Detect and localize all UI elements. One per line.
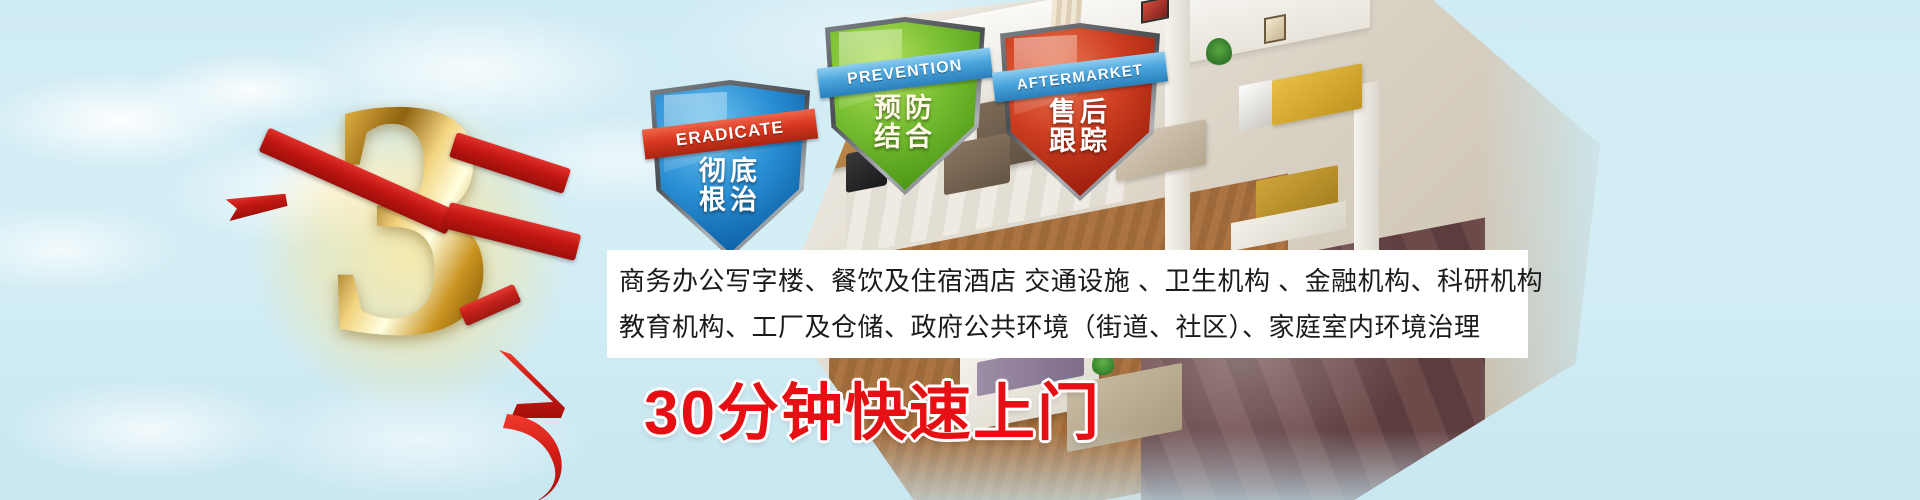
- service-scope-line-2: 教育机构、工厂及仓储、政府公共环境（街道、社区）、家庭室内环境治理: [619, 304, 1528, 350]
- shield-badge-eradicate: ERADICATE 彻底 根治: [655, 85, 805, 253]
- shield-cn-line2: 根治: [655, 186, 805, 215]
- shield-cn-line1: 预防: [830, 94, 980, 123]
- headline-30min-service: 30分钟快速上门: [644, 362, 1101, 452]
- range-hood: [1239, 80, 1272, 131]
- shield-badge-prevention: PREVENTION 预防 结合: [830, 22, 980, 190]
- arrow-head-shape: [499, 350, 565, 418]
- shield-cn-line1: 彻底: [655, 157, 805, 186]
- shield-text-prevention: 预防 结合: [830, 94, 980, 152]
- arrow-ribbon-tail-shape: [503, 414, 562, 500]
- shield-cn-line1: 售后: [1005, 98, 1155, 127]
- shield-cn-line2: 结合: [830, 123, 980, 152]
- promo-banner: 3 ERADICATE 彻底 根治: [0, 0, 1920, 500]
- wall-art-beige: [1264, 14, 1286, 44]
- shield-text-eradicate: 彻底 根治: [655, 157, 805, 215]
- service-scope-panel: 商务办公写字楼、餐饮及住宿酒店 交通设施 、卫生机构 、金融机构、科研机构 教育…: [607, 250, 1528, 358]
- shield-badge-aftermarket: AFTERMARKET 售后 跟踪: [1005, 28, 1155, 196]
- shield-cn-line2: 跟踪: [1005, 127, 1155, 156]
- shield-text-aftermarket: 售后 跟踪: [1005, 98, 1155, 156]
- service-scope-line-1: 商务办公写字楼、餐饮及住宿酒店 交通设施 、卫生机构 、金融机构、科研机构: [619, 258, 1528, 304]
